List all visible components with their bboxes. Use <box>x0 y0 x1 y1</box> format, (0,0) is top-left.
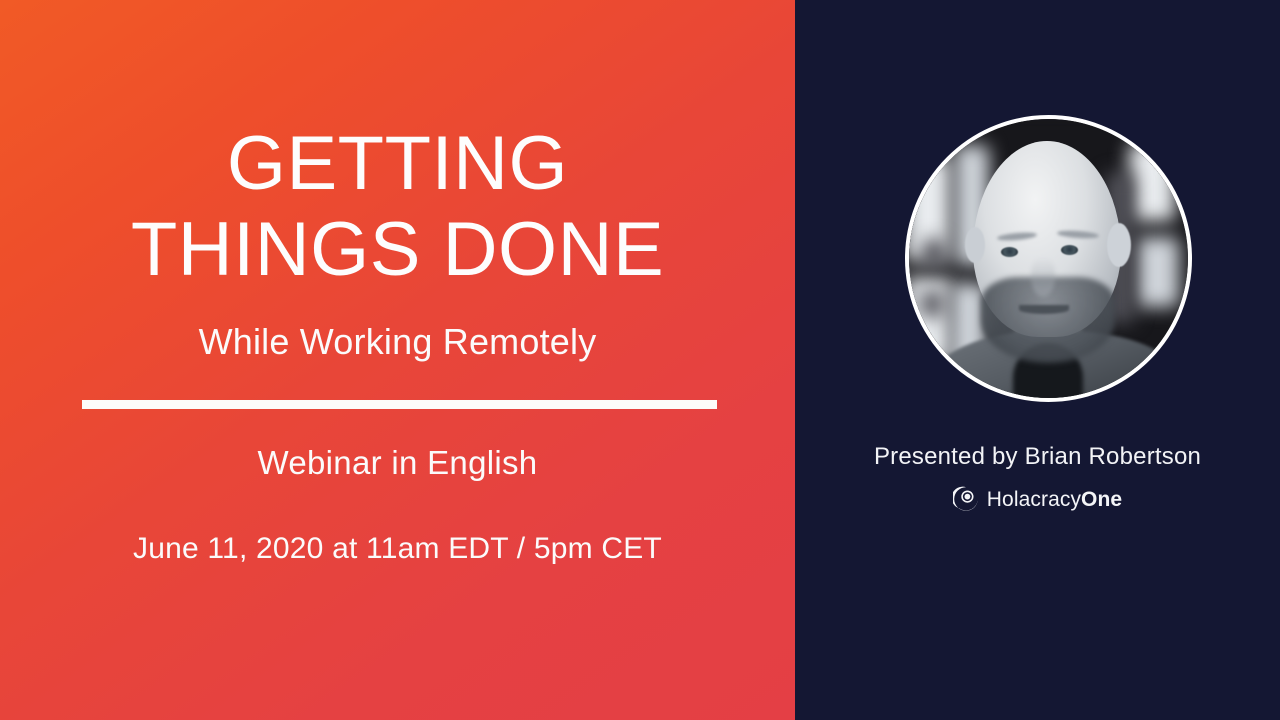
brand-lockup: HolacracyOne <box>795 486 1280 512</box>
portrait-ear-left <box>965 227 985 263</box>
subtitle: While Working Remotely <box>0 320 795 363</box>
left-panel: GETTING THINGS DONE While Working Remote… <box>0 0 795 720</box>
webinar-language: Webinar in English <box>0 443 795 483</box>
left-panel-content: GETTING THINGS DONE While Working Remote… <box>0 0 795 720</box>
portrait-mouth <box>1019 305 1069 314</box>
divider-bar <box>82 400 717 409</box>
brand-wordmark-light: Holacracy <box>987 488 1081 511</box>
right-panel: Presented by Brian Robertson HolacracyOn… <box>795 0 1280 720</box>
webinar-slide: GETTING THINGS DONE While Working Remote… <box>0 0 1280 720</box>
portrait-bg-shadow-1 <box>923 239 945 267</box>
speaker-credit: Presented by Brian Robertson <box>795 443 1280 472</box>
portrait-ear-right <box>1107 223 1131 267</box>
speaker-portrait <box>905 115 1192 402</box>
title-line-1: GETTING <box>0 126 795 202</box>
brand-wordmark-bold: One <box>1081 488 1122 511</box>
event-datetime: June 11, 2020 at 11am EDT / 5pm CET <box>0 531 795 567</box>
portrait-bg-pane-2 <box>909 277 951 363</box>
portrait-bg-pane-5 <box>1129 143 1175 221</box>
title-line-2: THINGS DONE <box>0 212 795 288</box>
brand-wordmark: HolacracyOne <box>987 489 1122 510</box>
portrait-nose <box>1031 257 1055 297</box>
portrait-bg-shadow-2 <box>921 291 943 317</box>
portrait-bg-pane-6 <box>1135 237 1179 307</box>
portrait-eye-left <box>1001 247 1018 257</box>
portrait-image <box>909 119 1188 398</box>
portrait-eye-right <box>1061 245 1078 255</box>
holacracy-spiral-icon <box>953 486 979 512</box>
